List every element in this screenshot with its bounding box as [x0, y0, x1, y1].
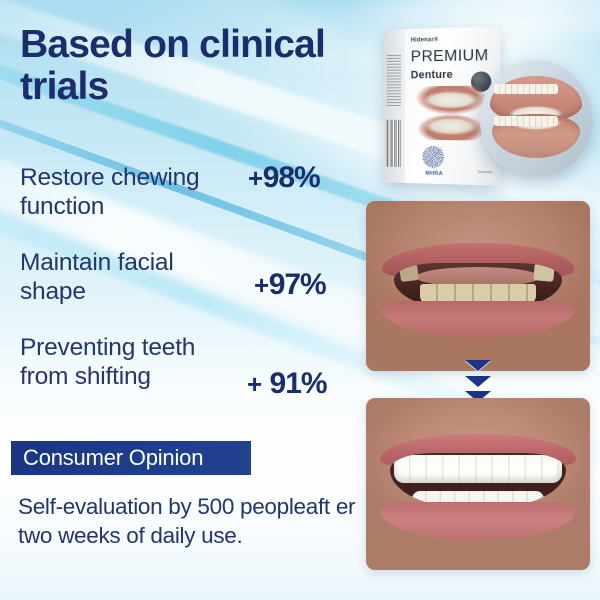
product-brand: Hidenar® — [411, 37, 439, 44]
plus-sign: + — [248, 163, 263, 193]
mouth-cavity — [390, 453, 566, 509]
broken-tooth-right — [533, 263, 554, 282]
product-title: PREMIUM — [411, 47, 489, 66]
benefit-percent: 97% — [269, 268, 326, 301]
lower-lip — [382, 301, 574, 337]
plus-sign: + — [247, 369, 262, 399]
barcode-icon — [387, 120, 401, 167]
broken-tooth-left — [399, 264, 419, 282]
upper-white-teeth — [394, 455, 562, 483]
benefit-label: Maintain facial shape — [20, 249, 245, 307]
chevron-1 — [465, 360, 491, 371]
consumer-opinion-banner: Consumer Opinion — [11, 441, 251, 475]
benefit-percent: 98% — [263, 161, 320, 194]
promo-poster: Based on clinical trials Restore chewing… — [0, 0, 600, 600]
benefit-row: Restore chewing function +98% — [18, 164, 358, 226]
product-image: Hidenar® PREMIUM Denture MHRA Denture — [376, 22, 596, 194]
benefit-label: Preventing teeth from shifting — [20, 334, 245, 392]
mhra-logo-icon — [422, 146, 444, 168]
benefits-list: Restore chewing function +98% Maintain f… — [18, 164, 358, 419]
benefit-row: Maintain facial shape +97% — [18, 249, 358, 311]
denture-model — [480, 52, 592, 184]
upper-teeth — [494, 84, 558, 94]
benefit-label: Restore chewing function — [20, 164, 245, 222]
consumer-opinion-text: Self-evaluation by 500 peopleaft er two … — [18, 492, 363, 551]
plus-sign: + — [254, 270, 269, 300]
before-photo — [366, 201, 590, 371]
benefit-stat: +97% — [254, 268, 326, 302]
page-title: Based on clinical trials — [20, 24, 360, 107]
after-photo — [366, 398, 590, 570]
product-subtitle: Denture — [411, 69, 453, 81]
benefit-percent: 91% — [270, 367, 327, 400]
benefit-row: Preventing teeth from shifting + 91% — [18, 334, 358, 396]
down-chevron-icon — [462, 360, 494, 402]
mhra-logo-label: MHRA — [422, 171, 446, 178]
lower-lip — [380, 502, 576, 540]
box-spine-text-lines — [387, 55, 401, 106]
chevron-2 — [465, 376, 491, 387]
benefit-stat: +98% — [248, 161, 320, 195]
benefit-stat: + 91% — [247, 367, 327, 401]
lower-teeth — [494, 116, 558, 126]
consumer-opinion-title: Consumer Opinion — [11, 445, 203, 471]
